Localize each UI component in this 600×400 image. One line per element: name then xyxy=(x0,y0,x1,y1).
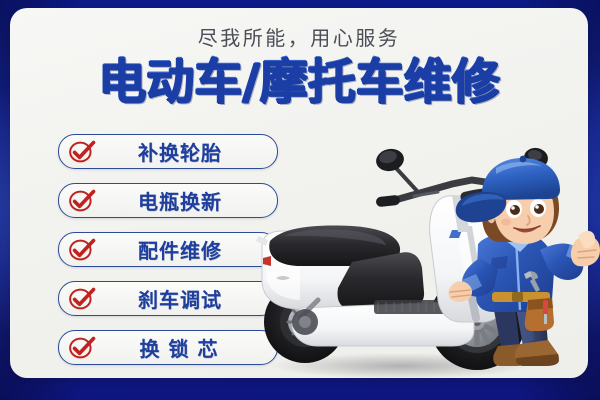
feature-pill[interactable]: 补换轮胎 xyxy=(58,134,278,169)
check-circle-icon xyxy=(68,189,96,213)
feature-pill[interactable]: 刹车调试 xyxy=(58,281,278,316)
tagline-text: 尽我所能，用心服务 xyxy=(10,22,588,51)
promo-poster: 尽我所能，用心服务 电动车/摩托车维修 补换轮胎电瓶换新配件维修刹车调试换锁芯 xyxy=(0,0,600,400)
feature-pill[interactable]: 配件维修 xyxy=(58,232,278,267)
check-circle-icon xyxy=(68,287,96,311)
feature-pill[interactable]: 换锁芯 xyxy=(58,330,278,365)
headline-text: 电动车/摩托车维修 xyxy=(10,58,588,107)
feature-list: 补换轮胎电瓶换新配件维修刹车调试换锁芯 xyxy=(58,134,278,378)
check-circle-icon xyxy=(68,336,96,360)
feature-pill[interactable]: 电瓶换新 xyxy=(58,183,278,218)
check-circle-icon xyxy=(68,238,96,262)
poster-card: 尽我所能，用心服务 电动车/摩托车维修 补换轮胎电瓶换新配件维修刹车调试换锁芯 xyxy=(10,8,588,378)
check-circle-icon xyxy=(68,140,96,164)
